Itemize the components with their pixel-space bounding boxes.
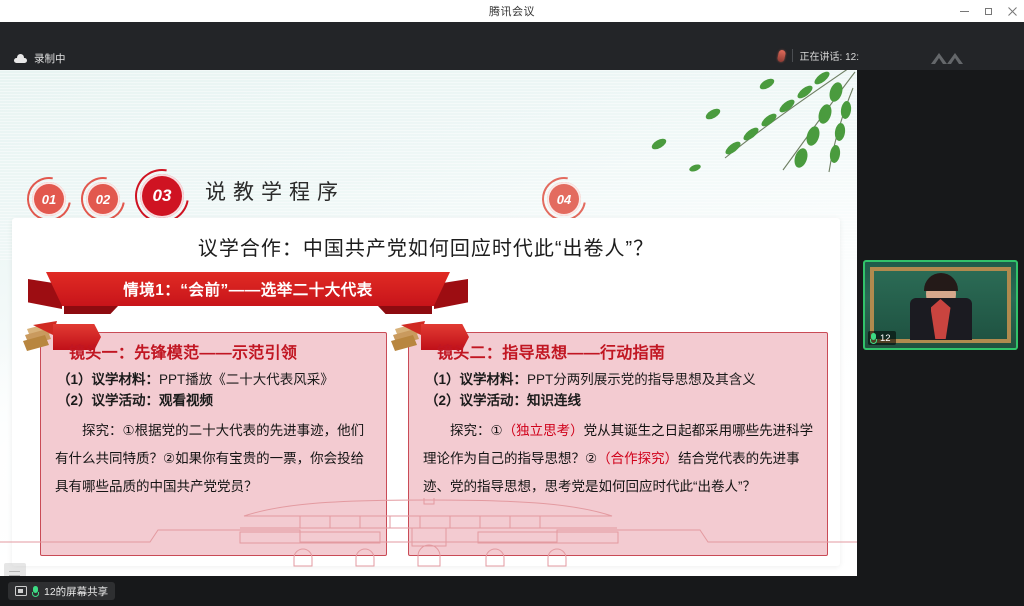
- app-logo-icon: [925, 48, 979, 70]
- step-indicator-01[interactable]: 01: [32, 182, 66, 216]
- bullet-label: （2）议学活动：: [425, 393, 527, 408]
- shared-screen-region[interactable]: 01 02 03 04 说教学程序 议学合作：中国共产党如何回应时代此“出卷: [0, 70, 857, 576]
- participant-name-badge: 12: [868, 331, 896, 345]
- step-number: 03: [153, 186, 172, 206]
- maximize-button[interactable]: [976, 0, 1000, 22]
- ribbon-fold-left: [64, 306, 118, 314]
- text-run: 探究：①: [450, 423, 503, 438]
- bullet-value: PPT分两列展示党的指导思想及其含义: [527, 372, 756, 387]
- bullet-value: 知识连线: [527, 393, 581, 408]
- step-indicator-03-active[interactable]: 03: [140, 174, 184, 218]
- close-icon: [1008, 7, 1017, 16]
- status-bar: 12的屏幕共享: [0, 576, 1024, 606]
- bullet-value: PPT播放《二十大代表风采》: [159, 372, 334, 387]
- participant-video-tile[interactable]: 12: [863, 260, 1018, 350]
- lesson-card-one-heading: 镜头一：先锋模范——示范引领: [69, 339, 297, 363]
- lesson-card-one-bullets: （1）议学材料：PPT播放《二十大代表风采》 （2）议学活动：观看视频: [57, 369, 376, 411]
- divider: [792, 49, 793, 62]
- scenario-ribbon-label: 情境1：“会前”——选举二十大代表: [46, 272, 450, 306]
- scenario-ribbon: 情境1：“会前”——选举二十大代表: [28, 272, 468, 314]
- close-button[interactable]: [1000, 0, 1024, 22]
- screen-share-icon: [15, 586, 27, 596]
- bullet-row: （1）议学材料：PPT播放《二十大代表风采》: [57, 369, 376, 390]
- window-controls: [952, 0, 1024, 22]
- bullet-label: （1）议学材料：: [425, 372, 527, 387]
- minimize-icon: [960, 11, 969, 12]
- microphone-icon: [32, 586, 39, 597]
- bullet-value: 观看视频: [159, 393, 213, 408]
- bullet-label: （1）议学材料：: [57, 372, 159, 387]
- step-number: 01: [42, 192, 56, 207]
- tiananmen-line-art: [0, 498, 857, 576]
- ribbon-fold-right: [378, 306, 432, 314]
- recording-indicator: 录制中: [14, 51, 66, 66]
- window-title: 腾讯会议: [489, 3, 535, 19]
- bullet-row: （2）议学活动：知识连线: [425, 390, 817, 411]
- annotation-toolbar-handle[interactable]: [4, 563, 26, 576]
- meeting-window: 腾讯会议 正在讲话: 12: 录制中: [0, 0, 1024, 606]
- slide-question: 议学合作：中国共产党如何回应时代此“出卷人”？: [12, 232, 840, 261]
- bullet-row: （1）议学材料：PPT分两列展示党的指导思想及其含义: [425, 369, 817, 390]
- step-number: 04: [557, 192, 571, 207]
- lesson-card-two-bullets: （1）议学材料：PPT分两列展示党的指导思想及其含义 （2）议学活动：知识连线: [425, 369, 817, 411]
- cloud-recording-icon: [14, 54, 27, 63]
- minimize-button[interactable]: [952, 0, 976, 22]
- step-number: 02: [96, 192, 110, 207]
- microphone-icon: [776, 49, 785, 62]
- meeting-toolbar: 正在讲话: 12:: [0, 22, 1024, 70]
- screen-share-label: 12的屏幕共享: [44, 584, 108, 599]
- recording-label: 录制中: [34, 51, 66, 66]
- bullet-label: （2）议学活动：: [57, 393, 159, 408]
- willow-branch-decoration: [617, 70, 857, 177]
- step-indicator-02[interactable]: 02: [86, 182, 120, 216]
- screen-share-status[interactable]: 12的屏幕共享: [8, 582, 115, 600]
- window-title-bar: 腾讯会议: [0, 0, 1024, 23]
- active-speaker-label: 正在讲话: 12:: [800, 48, 859, 63]
- slide-section-title: 说教学程序: [205, 176, 345, 206]
- participant-name: 12: [880, 333, 891, 344]
- highlighted-text-run: （独立思考）: [503, 423, 584, 438]
- highlighted-text-run: （合作探究）: [597, 451, 678, 466]
- hair: [924, 273, 958, 291]
- maximize-icon: [985, 8, 992, 15]
- step-indicator-04[interactable]: 04: [547, 182, 581, 216]
- presentation-slide: 01 02 03 04 说教学程序 议学合作：中国共产党如何回应时代此“出卷: [0, 70, 857, 576]
- microphone-icon: [870, 333, 877, 344]
- lesson-card-one-body: 探究：①根据党的二十大代表的先进事迹，他们有什么共同特质？②如果你有宝贵的一票，…: [55, 417, 374, 501]
- lesson-card-two-body: 探究：①（独立思考）党从其诞生之日起都采用哪些先进科学理论作为自己的指导思想？②…: [423, 417, 815, 501]
- active-speaker-indicator: 正在讲话: 12:: [778, 48, 859, 63]
- participants-panel: 12: [857, 70, 1024, 576]
- toolbar-line: [9, 571, 20, 573]
- lesson-card-two-heading: 镜头二：指导思想——行动指南: [437, 339, 665, 363]
- bullet-row: （2）议学活动：观看视频: [57, 390, 376, 411]
